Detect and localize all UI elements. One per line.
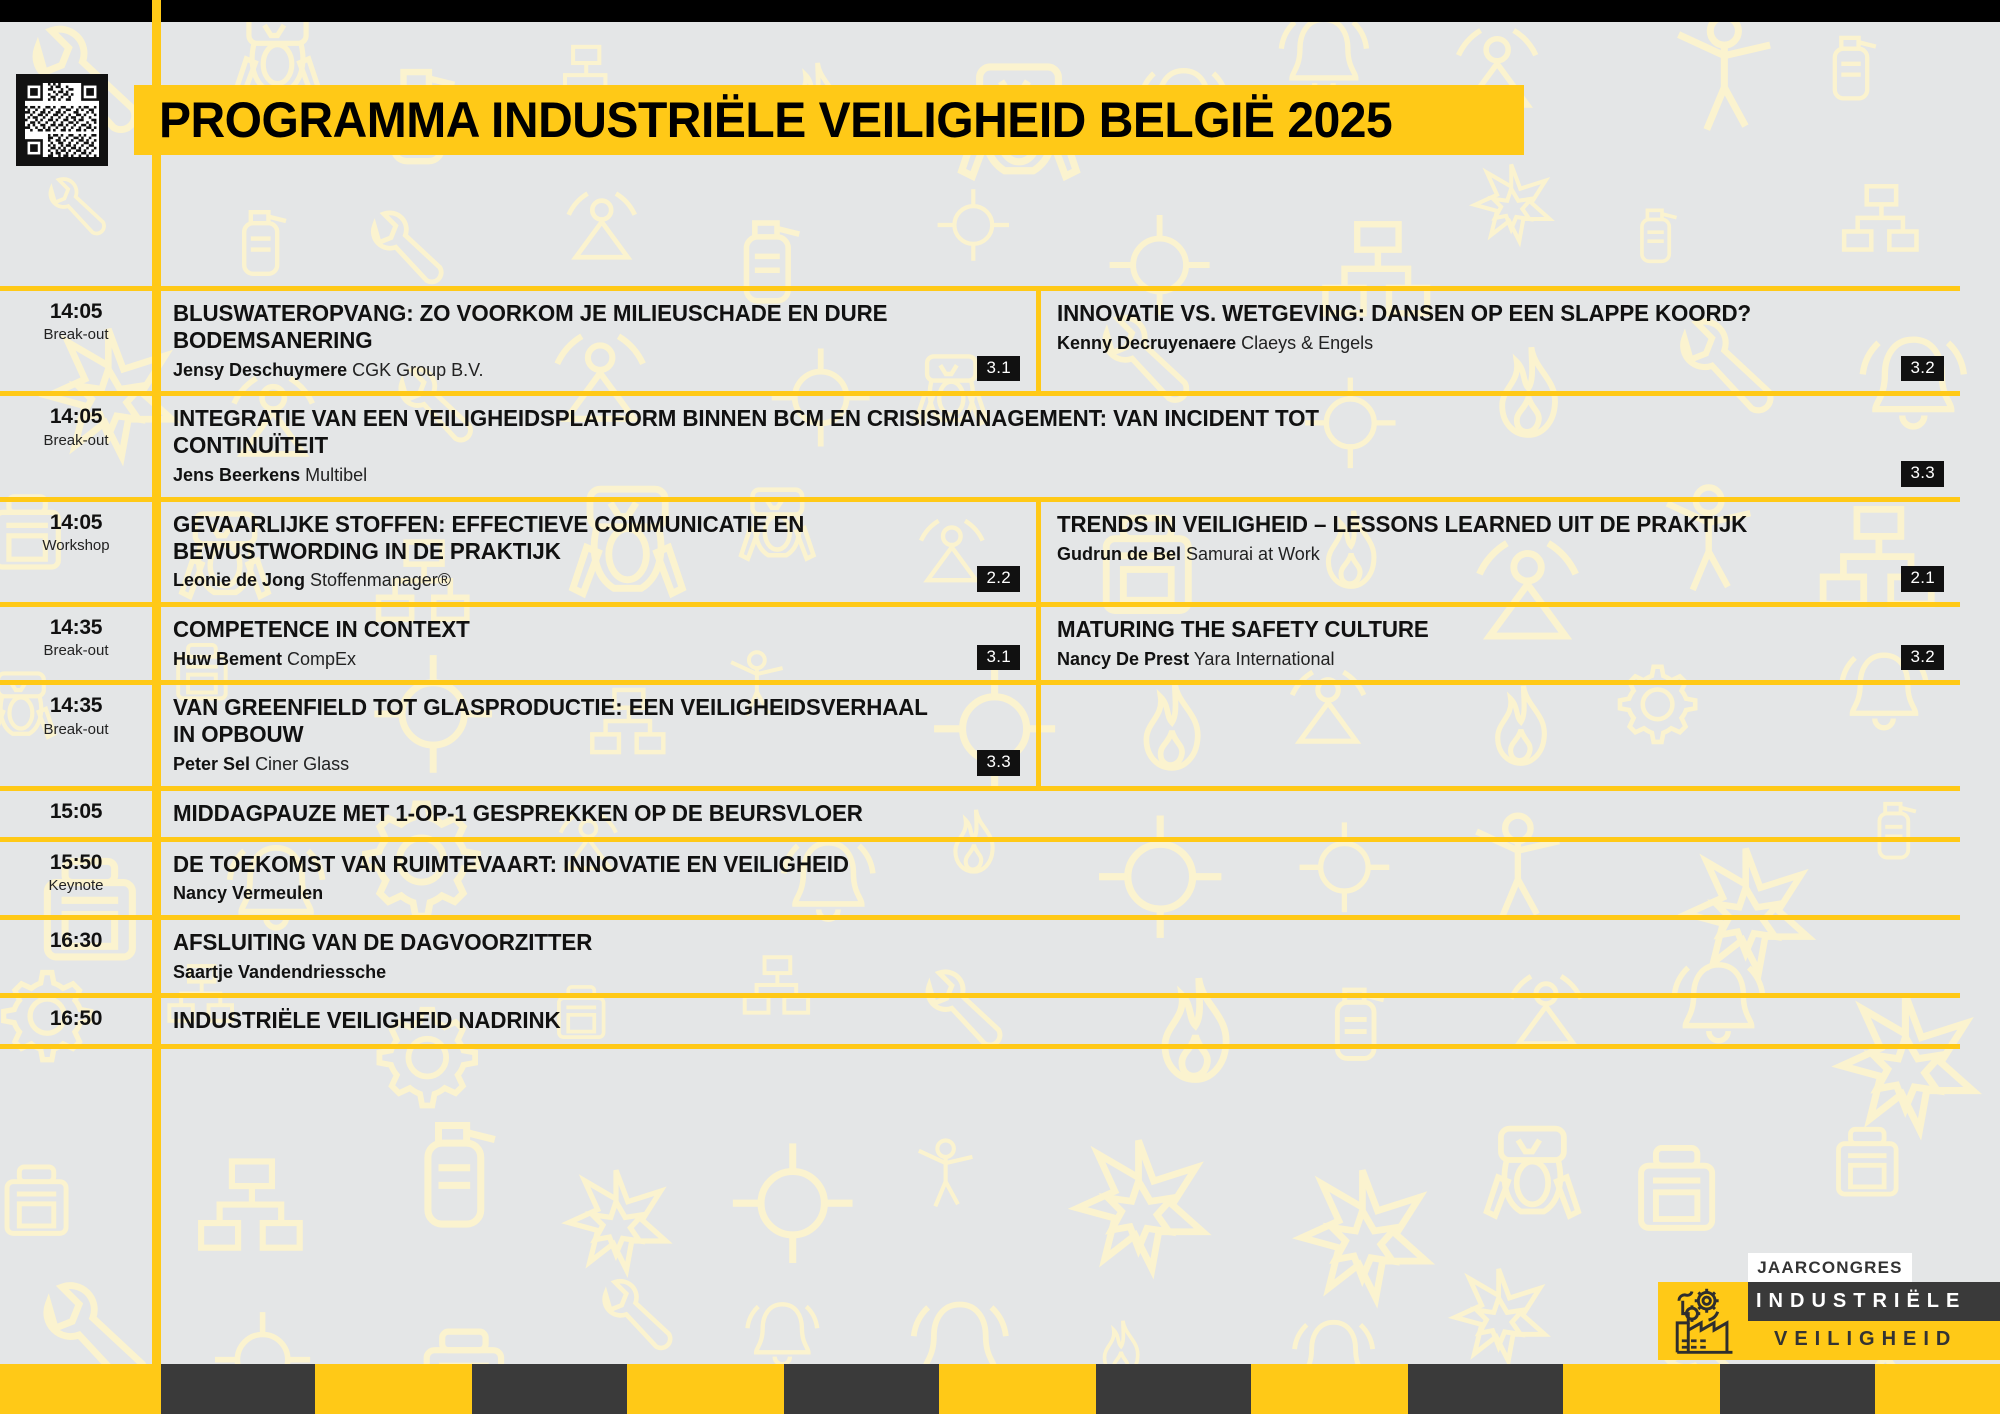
session-time: 14:05 [0, 404, 152, 429]
schedule-row: 15:50KeynoteDE TOEKOMST VAN RUIMTEVAART:… [0, 837, 1960, 915]
session-type: Break-out [0, 719, 152, 742]
schedule-row: 14:35Break-outVAN GREENFIELD TOT GLASPRO… [0, 680, 1960, 785]
session-title: COMPETENCE IN CONTEXT [173, 616, 949, 643]
room-badge: 3.2 [1901, 356, 1944, 382]
session-title: BLUSWATEROPVANG: ZO VOORKOM JE MILIEUSCH… [173, 300, 949, 354]
session-time: 14:35 [0, 615, 152, 640]
session-speaker: Nancy Vermeulen [173, 882, 1960, 905]
session-title: MATURING THE SAFETY CULTURE [1057, 616, 1823, 643]
sessions-container: COMPETENCE IN CONTEXTHuw Bement CompEx3.… [152, 607, 1960, 680]
speaker-name: Nancy De Prest [1057, 649, 1189, 669]
session-title: INNOVATIE VS. WETGEVING: DANSEN OP EEN S… [1057, 300, 1823, 327]
session-speaker: Leonie de Jong Stoffenmanager® [173, 569, 1036, 592]
schedule-row: 14:05WorkshopGEVAARLIJKE STOFFEN: EFFECT… [0, 497, 1960, 602]
room-badge: 2.1 [1901, 566, 1944, 592]
event-logo: JAARCONGRES [1658, 1253, 2000, 1360]
speaker-organisation: Claeys & Engels [1241, 333, 1373, 353]
session-card[interactable]: DE TOEKOMST VAN RUIMTEVAART: INNOVATIE E… [152, 842, 1960, 915]
speaker-organisation: CompEx [287, 649, 356, 669]
session-card-empty [1036, 685, 1960, 785]
schedule-row: 15:05MIDDAGPAUZE MET 1-OP-1 GESPREKKEN O… [0, 786, 1960, 837]
session-card[interactable]: INDUSTRIËLE VEILIGHEID NADRINK [152, 998, 1960, 1044]
sessions-container: MIDDAGPAUZE MET 1-OP-1 GESPREKKEN OP DE … [152, 791, 1960, 837]
session-card[interactable]: COMPETENCE IN CONTEXTHuw Bement CompEx3.… [152, 607, 1036, 680]
time-cell: 15:50Keynote [0, 842, 152, 915]
room-badge: 3.3 [1901, 461, 1944, 487]
room-badge: 2.2 [977, 566, 1020, 592]
speaker-name: Kenny Decruyenaere [1057, 333, 1236, 353]
session-type: Workshop [0, 535, 152, 558]
speaker-organisation: Ciner Glass [255, 754, 349, 774]
page-title-banner: PROGRAMMA INDUSTRIËLE VEILIGHEID BELGIË … [134, 85, 1524, 155]
session-time: 14:05 [0, 299, 152, 324]
speaker-organisation: Stoffenmanager® [310, 570, 451, 590]
session-time: 16:50 [0, 1006, 152, 1031]
speaker-name: Saartje Vandendriessche [173, 962, 386, 982]
session-card[interactable]: TRENDS IN VEILIGHEID – LESSONS LEARNED U… [1036, 502, 1960, 602]
program-schedule: 14:05Break-outBLUSWATEROPVANG: ZO VOORKO… [0, 286, 1960, 1049]
time-cell: 14:05Break-out [0, 291, 152, 391]
session-title: VAN GREENFIELD TOT GLASPRODUCTIE: EEN VE… [173, 694, 949, 748]
schedule-row: 14:05Break-outBLUSWATEROPVANG: ZO VOORKO… [0, 286, 1960, 391]
session-time: 15:50 [0, 850, 152, 875]
session-speaker: Saartje Vandendriessche [173, 961, 1960, 984]
speaker-organisation: Multibel [305, 465, 367, 485]
sessions-container: BLUSWATEROPVANG: ZO VOORKOM JE MILIEUSCH… [152, 291, 1960, 391]
logo-jaarcongres: JAARCONGRES [1748, 1253, 1912, 1282]
session-type: Keynote [0, 875, 152, 898]
schedule-row: 14:35Break-outCOMPETENCE IN CONTEXTHuw B… [0, 602, 1960, 680]
speaker-organisation: CGK Group B.V. [352, 360, 483, 380]
factory-gears-icon [1658, 1282, 1748, 1360]
session-card[interactable]: INNOVATIE VS. WETGEVING: DANSEN OP EEN S… [1036, 291, 1960, 391]
speaker-name: Jens Beerkens [173, 465, 300, 485]
session-card[interactable]: AFSLUITING VAN DE DAGVOORZITTERSaartje V… [152, 920, 1960, 993]
session-title: MIDDAGPAUZE MET 1-OP-1 GESPREKKEN OP DE … [173, 800, 1434, 827]
session-time: 15:05 [0, 799, 152, 824]
top-black-bar [0, 0, 2000, 22]
logo-line-industriele: INDUSTRIËLE [1748, 1282, 2000, 1321]
time-cell: 14:05Break-out [0, 396, 152, 496]
session-title: INTEGRATIE VAN EEN VEILIGHEIDSPLATFORM B… [173, 405, 1434, 459]
speaker-organisation: Samurai at Work [1186, 544, 1320, 564]
speaker-organisation: Yara International [1194, 649, 1335, 669]
room-badge: 3.2 [1901, 645, 1944, 671]
sessions-container: VAN GREENFIELD TOT GLASPRODUCTIE: EEN VE… [152, 685, 1960, 785]
logo-line-veiligheid: VEILIGHEID [1748, 1321, 2000, 1358]
session-title: GEVAARLIJKE STOFFEN: EFFECTIEVE COMMUNIC… [173, 511, 949, 565]
speaker-name: Peter Sel [173, 754, 250, 774]
qr-code-icon [25, 83, 99, 157]
schedule-row: 16:30AFSLUITING VAN DE DAGVOORZITTERSaar… [0, 915, 1960, 993]
session-time: 14:35 [0, 693, 152, 718]
time-cell: 16:30 [0, 920, 152, 993]
session-type: Break-out [0, 640, 152, 663]
time-cell: 15:05 [0, 791, 152, 837]
schedule-row: 16:50INDUSTRIËLE VEILIGHEID NADRINK [0, 993, 1960, 1049]
session-card[interactable]: BLUSWATEROPVANG: ZO VOORKOM JE MILIEUSCH… [152, 291, 1036, 391]
session-title: INDUSTRIËLE VEILIGHEID NADRINK [173, 1007, 1434, 1034]
session-title: DE TOEKOMST VAN RUIMTEVAART: INNOVATIE E… [173, 851, 1434, 878]
session-card[interactable]: INTEGRATIE VAN EEN VEILIGHEIDSPLATFORM B… [152, 396, 1960, 496]
sessions-container: DE TOEKOMST VAN RUIMTEVAART: INNOVATIE E… [152, 842, 1960, 915]
session-type: Break-out [0, 324, 152, 347]
bottom-hazard-stripe [0, 1364, 2000, 1414]
hazard-yellow-tick [152, 1364, 161, 1414]
room-badge: 3.3 [977, 750, 1020, 776]
speaker-name: Gudrun de Bel [1057, 544, 1181, 564]
session-title: TRENDS IN VEILIGHEID – LESSONS LEARNED U… [1057, 511, 1823, 538]
sessions-container: GEVAARLIJKE STOFFEN: EFFECTIEVE COMMUNIC… [152, 502, 1960, 602]
top-bar-yellow-tick [152, 0, 161, 22]
schedule-row: 14:05Break-outINTEGRATIE VAN EEN VEILIGH… [0, 391, 1960, 496]
session-speaker: Kenny Decruyenaere Claeys & Engels [1057, 332, 1960, 355]
time-cell: 14:35Break-out [0, 607, 152, 680]
sessions-container: INTEGRATIE VAN EEN VEILIGHEIDSPLATFORM B… [152, 396, 1960, 496]
session-card[interactable]: MATURING THE SAFETY CULTURENancy De Pres… [1036, 607, 1960, 680]
page-title: PROGRAMMA INDUSTRIËLE VEILIGHEID BELGIË … [134, 91, 1392, 149]
speaker-name: Huw Bement [173, 649, 282, 669]
session-speaker: Huw Bement CompEx [173, 648, 1036, 671]
session-time: 16:30 [0, 928, 152, 953]
session-card[interactable]: VAN GREENFIELD TOT GLASPRODUCTIE: EEN VE… [152, 685, 1036, 785]
sessions-container: AFSLUITING VAN DE DAGVOORZITTERSaartje V… [152, 920, 1960, 993]
speaker-name: Jensy Deschuymere [173, 360, 347, 380]
session-time: 14:05 [0, 510, 152, 535]
room-badge: 3.1 [977, 356, 1020, 382]
speaker-name: Leonie de Jong [173, 570, 305, 590]
session-card[interactable]: MIDDAGPAUZE MET 1-OP-1 GESPREKKEN OP DE … [152, 791, 1960, 837]
qr-code[interactable] [16, 74, 108, 166]
sessions-container: INDUSTRIËLE VEILIGHEID NADRINK [152, 998, 1960, 1044]
time-cell: 16:50 [0, 998, 152, 1044]
session-speaker: Jensy Deschuymere CGK Group B.V. [173, 359, 1036, 382]
session-speaker: Gudrun de Bel Samurai at Work [1057, 543, 1960, 566]
session-type: Break-out [0, 430, 152, 453]
session-title: AFSLUITING VAN DE DAGVOORZITTER [173, 929, 1434, 956]
time-cell: 14:35Break-out [0, 685, 152, 785]
session-card[interactable]: GEVAARLIJKE STOFFEN: EFFECTIEVE COMMUNIC… [152, 502, 1036, 602]
session-speaker: Jens Beerkens Multibel [173, 464, 1960, 487]
time-cell: 14:05Workshop [0, 502, 152, 602]
session-speaker: Peter Sel Ciner Glass [173, 753, 1036, 776]
session-speaker: Nancy De Prest Yara International [1057, 648, 1960, 671]
room-badge: 3.1 [977, 645, 1020, 671]
speaker-name: Nancy Vermeulen [173, 883, 323, 903]
